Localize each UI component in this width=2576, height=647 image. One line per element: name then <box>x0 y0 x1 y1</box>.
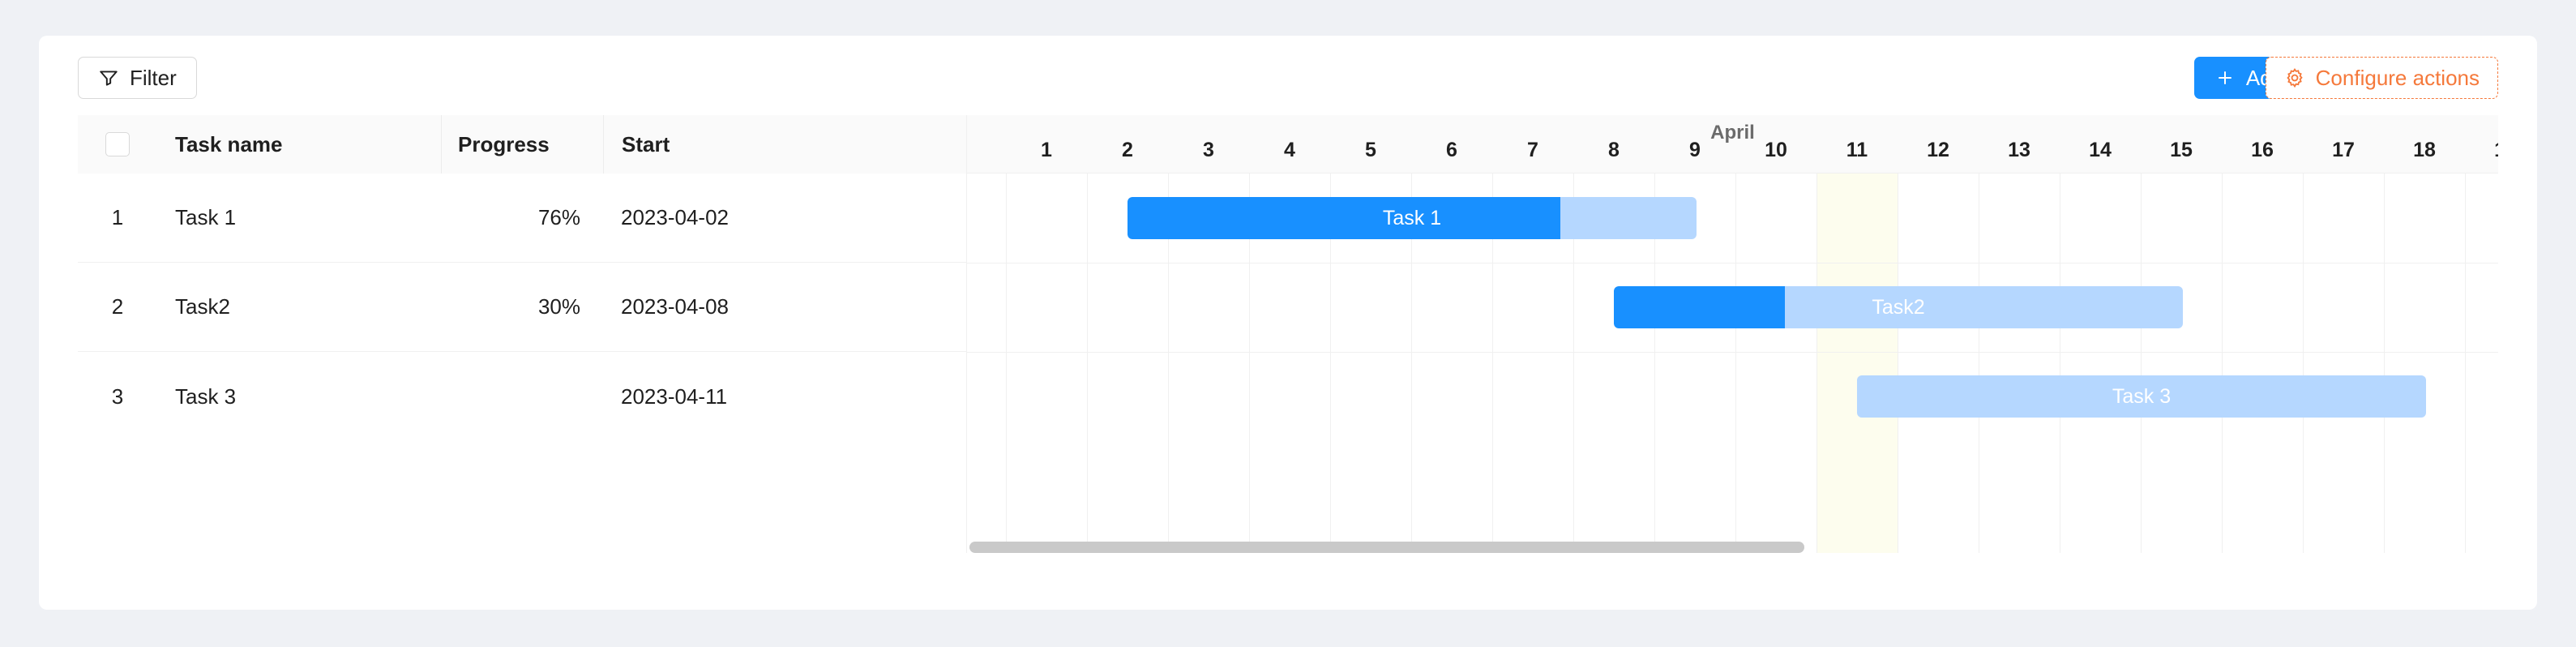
configure-actions-label: Configure actions <box>2316 66 2480 91</box>
select-all-checkbox[interactable] <box>105 132 130 156</box>
configure-actions-button[interactable]: Configure actions <box>2266 57 2498 99</box>
day-tick-19: 19 <box>2465 139 2498 173</box>
toolbar: Filter Add new Configure actions <box>39 36 2537 109</box>
grid-line-horizontal <box>967 352 2498 353</box>
row-start: 2023-04-11 <box>603 352 830 441</box>
filter-button[interactable]: Filter <box>78 57 197 99</box>
gantt-bar[interactable]: Task2 <box>1614 286 2183 328</box>
row-index: 2 <box>78 263 157 351</box>
grid-line-vertical <box>2141 174 2142 553</box>
day-scale: 12345678910111213141516171819 <box>967 139 2498 173</box>
row-start: 2023-04-02 <box>603 174 830 262</box>
plus-icon <box>2215 68 2235 88</box>
gantt-bar-progress-fill <box>1614 286 1785 328</box>
timeline-header: April 12345678910111213141516171819 <box>967 115 2498 174</box>
grid-line-vertical <box>2465 174 2466 553</box>
day-tick-7: 7 <box>1492 139 1573 173</box>
gantt-bar[interactable]: Task 1 <box>1128 197 1697 239</box>
gantt-card: Filter Add new Configure actions <box>39 36 2537 610</box>
row-task-name: Task 1 <box>157 174 441 262</box>
gantt-bar-label: Task 3 <box>1857 375 2426 418</box>
row-task-name: Task2 <box>157 263 441 351</box>
day-tick-16: 16 <box>2222 139 2303 173</box>
grid-line-vertical <box>2303 174 2304 553</box>
grid-line-vertical <box>2384 174 2385 553</box>
timeline: April 12345678910111213141516171819 Task… <box>967 115 2498 553</box>
day-tick-17: 17 <box>2303 139 2384 173</box>
grid-line-vertical <box>1087 174 1088 553</box>
row-progress <box>441 352 603 441</box>
grid-line-vertical <box>1898 174 1898 553</box>
table-row[interactable]: 2 Task2 30% 2023-04-08 <box>78 263 966 352</box>
today-highlight-column <box>1816 174 1898 553</box>
day-tick-12: 12 <box>1898 139 1979 173</box>
row-start: 2023-04-08 <box>603 263 830 351</box>
select-all-header <box>78 115 157 174</box>
day-tick-18: 18 <box>2384 139 2465 173</box>
day-tick-3: 3 <box>1168 139 1249 173</box>
gantt-grid: Task name Progress Start 1 Task 1 76% 20… <box>78 115 2498 553</box>
grid-line-horizontal <box>967 263 2498 264</box>
day-tick-8: 8 <box>1573 139 1654 173</box>
row-index: 1 <box>78 174 157 262</box>
day-tick-15: 15 <box>2141 139 2222 173</box>
day-tick-14: 14 <box>2060 139 2141 173</box>
gantt-bar[interactable]: Task 3 <box>1857 375 2426 418</box>
timeline-body: Task 1Task2Task 3 <box>967 174 2498 553</box>
day-tick-10: 10 <box>1735 139 1816 173</box>
grid-line-vertical <box>1735 174 1736 553</box>
horizontal-scrollbar[interactable] <box>967 542 2498 553</box>
filter-label: Filter <box>130 66 177 91</box>
header-progress[interactable]: Progress <box>441 115 603 174</box>
day-tick-9: 9 <box>1654 139 1735 173</box>
header-task-name[interactable]: Task name <box>157 115 441 174</box>
day-tick-11: 11 <box>1816 139 1898 173</box>
grid-line-vertical <box>1816 174 1817 553</box>
day-tick-2: 2 <box>1087 139 1168 173</box>
table-row[interactable]: 3 Task 3 2023-04-11 <box>78 352 966 441</box>
gantt-bar-progress-fill <box>1128 197 1560 239</box>
gear-icon <box>2284 67 2305 88</box>
grid-line-vertical <box>2060 174 2060 553</box>
grid-line-vertical <box>1979 174 1979 553</box>
row-progress: 30% <box>441 263 603 351</box>
scrollbar-thumb[interactable] <box>969 542 1804 553</box>
row-progress: 76% <box>441 174 603 262</box>
day-tick-4: 4 <box>1249 139 1330 173</box>
grid-line-vertical <box>1006 174 1007 553</box>
row-task-name: Task 3 <box>157 352 441 441</box>
row-index: 3 <box>78 352 157 441</box>
table-header-row: Task name Progress Start <box>78 115 966 174</box>
day-tick-6: 6 <box>1411 139 1492 173</box>
task-table: Task name Progress Start 1 Task 1 76% 20… <box>78 115 967 553</box>
day-tick-5: 5 <box>1330 139 1411 173</box>
grid-line-vertical <box>2222 174 2223 553</box>
header-start[interactable]: Start <box>603 115 830 174</box>
day-tick-13: 13 <box>1979 139 2060 173</box>
filter-icon <box>98 67 119 88</box>
table-row[interactable]: 1 Task 1 76% 2023-04-02 <box>78 174 966 263</box>
day-tick-1: 1 <box>1006 139 1087 173</box>
